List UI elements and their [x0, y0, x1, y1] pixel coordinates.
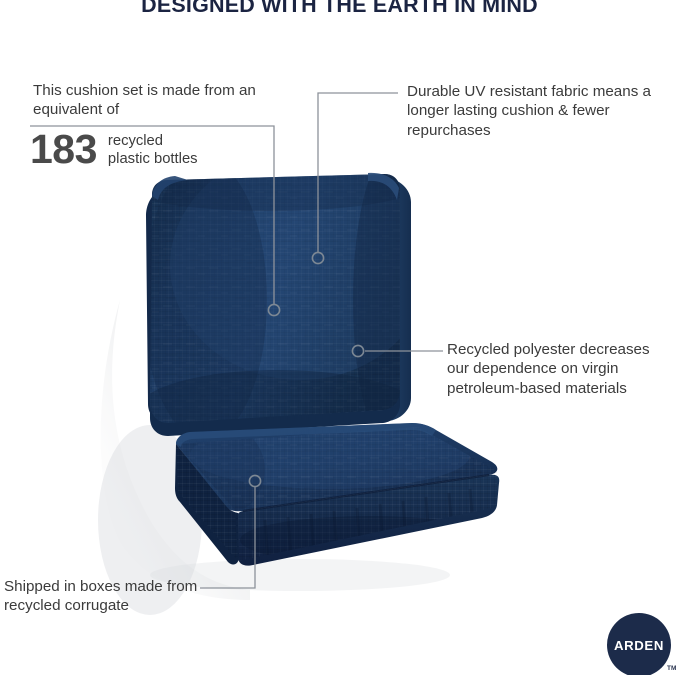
- stat-label: recycled plastic bottles: [108, 132, 198, 168]
- callout-text-recycled-polyester: Recycled polyester decreases our depende…: [447, 340, 675, 398]
- stat-label-line-2: plastic bottles: [108, 151, 198, 167]
- trademark-symbol: TM: [667, 665, 676, 672]
- stat-number-183: 183: [30, 129, 97, 170]
- back-cushion: [120, 150, 440, 450]
- callout-text-uv-resistant: Durable UV resistant fabric means a long…: [407, 82, 657, 140]
- arden-logo: ARDEN TM: [607, 613, 675, 675]
- stat-recycled-bottles: 183 recycled plastic bottles: [30, 129, 198, 170]
- stat-label-line-1: recycled: [108, 133, 163, 149]
- logo-disc: ARDEN: [607, 613, 671, 675]
- logo-wordmark: ARDEN: [614, 638, 664, 653]
- seat-cushion: [160, 415, 520, 575]
- callout-text-bottles: This cushion set is made from an equival…: [33, 81, 273, 120]
- callout-text-shipping-boxes: Shipped in boxes made from recycled corr…: [4, 577, 219, 616]
- infographic-canvas: DESIGNED WITH THE EARTH IN MIND: [0, 0, 679, 675]
